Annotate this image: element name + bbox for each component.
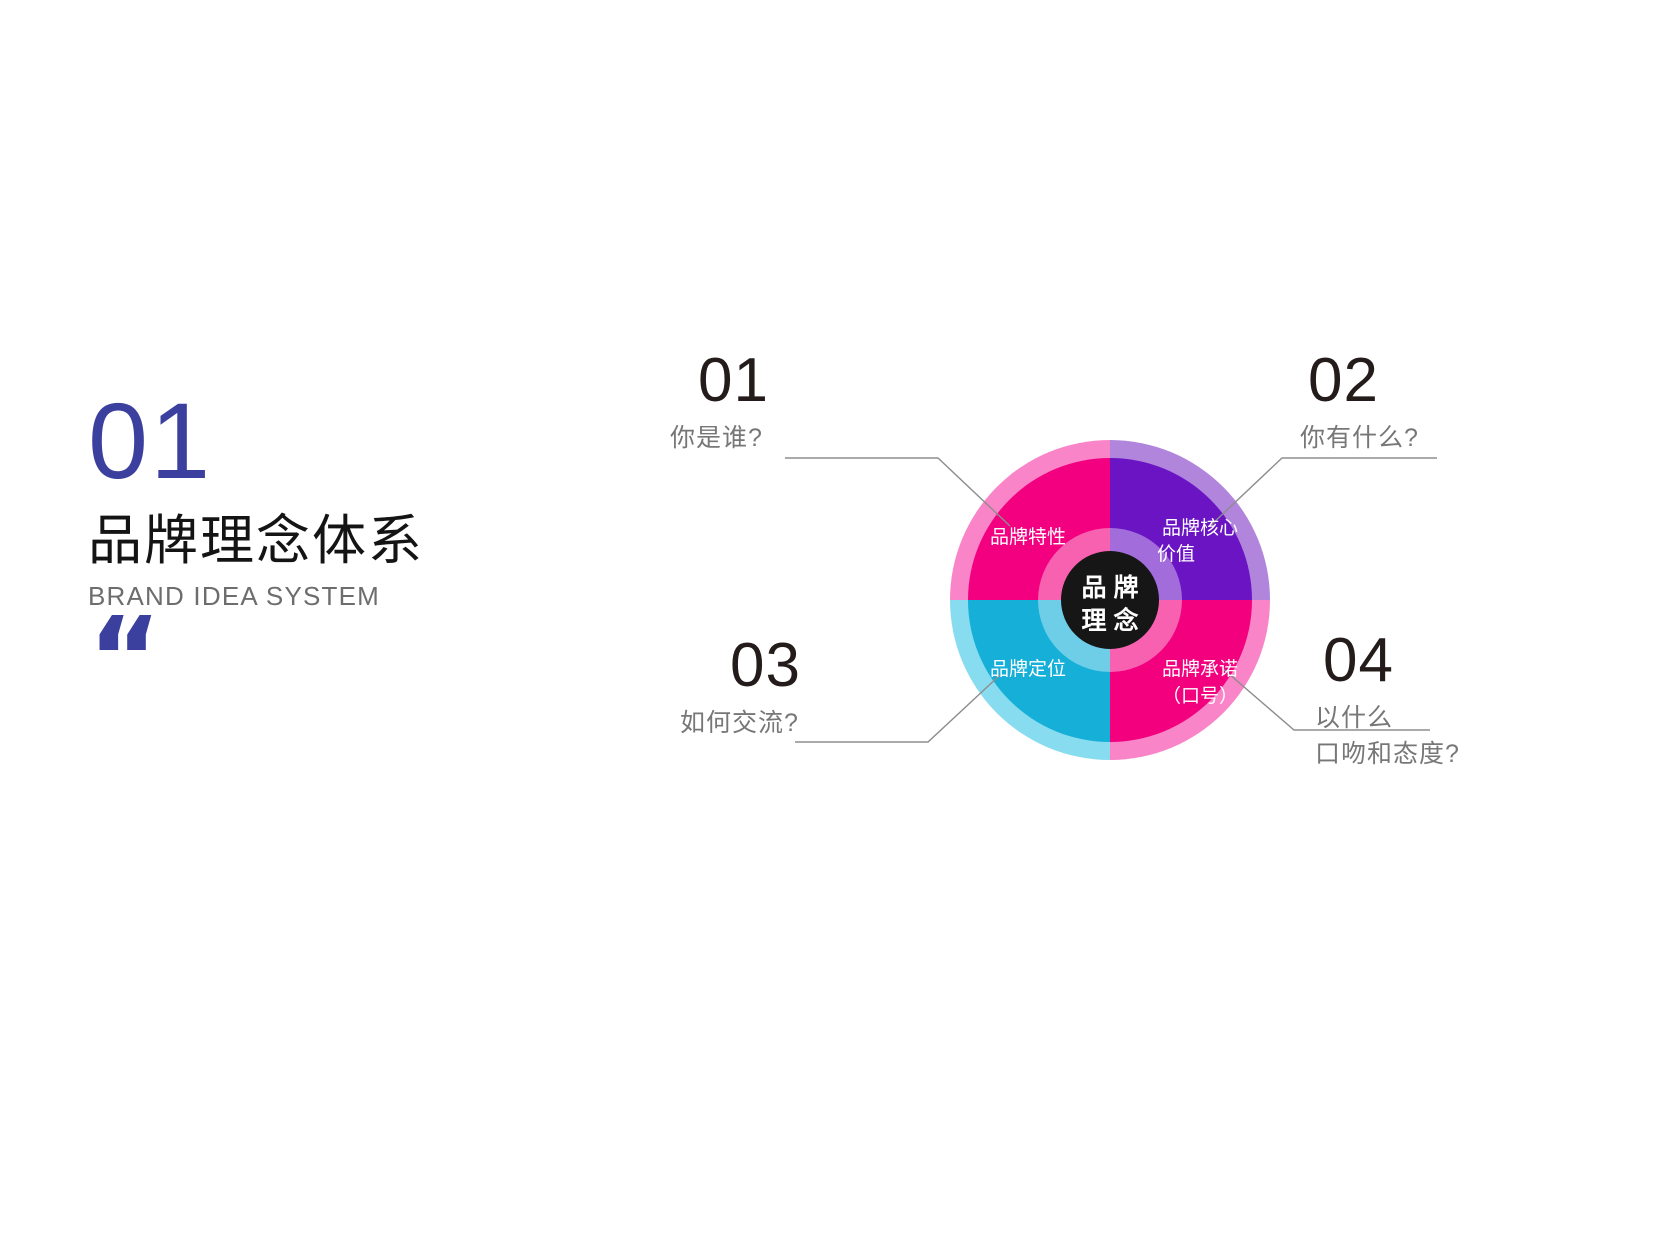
- callout-02-question: 你有什么?: [1300, 422, 1419, 456]
- callout-04-number: 04: [1323, 630, 1460, 692]
- connector-line-03: [795, 675, 1000, 742]
- callout-03-number: 03: [730, 635, 801, 697]
- section-number: 01: [88, 388, 608, 494]
- quadrant-label-brand-promise-line2: （口号）: [1162, 685, 1238, 707]
- callout-02[interactable]: 02 你有什么?: [1300, 350, 1419, 456]
- brand-idea-wheel-diagram: 品牌特性 品牌核心 价值 品牌承诺 （口号） 品牌定位 品 牌 理 念 01 你…: [610, 330, 1610, 850]
- center-label-line2: 理 念: [1082, 606, 1139, 635]
- section-intro-block: 01 品牌理念体系 BRAND IDEA SYSTEM “: [88, 388, 608, 689]
- quadrant-label-brand-core-value-line1: 品牌核心: [1162, 517, 1238, 539]
- callout-04-question-line1: 以什么: [1315, 702, 1460, 736]
- callout-04[interactable]: 04 以什么 口吻和态度?: [1315, 630, 1460, 772]
- quadrant-label-brand-core-value-line2: 价值: [1157, 543, 1195, 565]
- callout-01-question: 你是谁?: [670, 422, 769, 456]
- center-label-line1: 品 牌: [1082, 573, 1139, 602]
- callout-01[interactable]: 01 你是谁?: [670, 350, 769, 456]
- quadrant-label-brand-character: 品牌特性: [990, 526, 1066, 548]
- page-subtitle-en: BRAND IDEA SYSTEM: [88, 582, 608, 611]
- callout-01-number: 01: [698, 350, 769, 412]
- quadrant-label-brand-promise-line1: 品牌承诺: [1162, 658, 1238, 680]
- page-title: 品牌理念体系: [88, 512, 608, 570]
- quadrant-label-brand-positioning: 品牌定位: [990, 658, 1066, 680]
- callout-03-question: 如何交流?: [680, 707, 801, 741]
- quote-mark-icon: “: [88, 629, 608, 689]
- callout-04-question-line2: 口吻和态度?: [1315, 738, 1460, 772]
- callout-02-number: 02: [1308, 350, 1419, 412]
- callout-03[interactable]: 03 如何交流?: [680, 635, 801, 741]
